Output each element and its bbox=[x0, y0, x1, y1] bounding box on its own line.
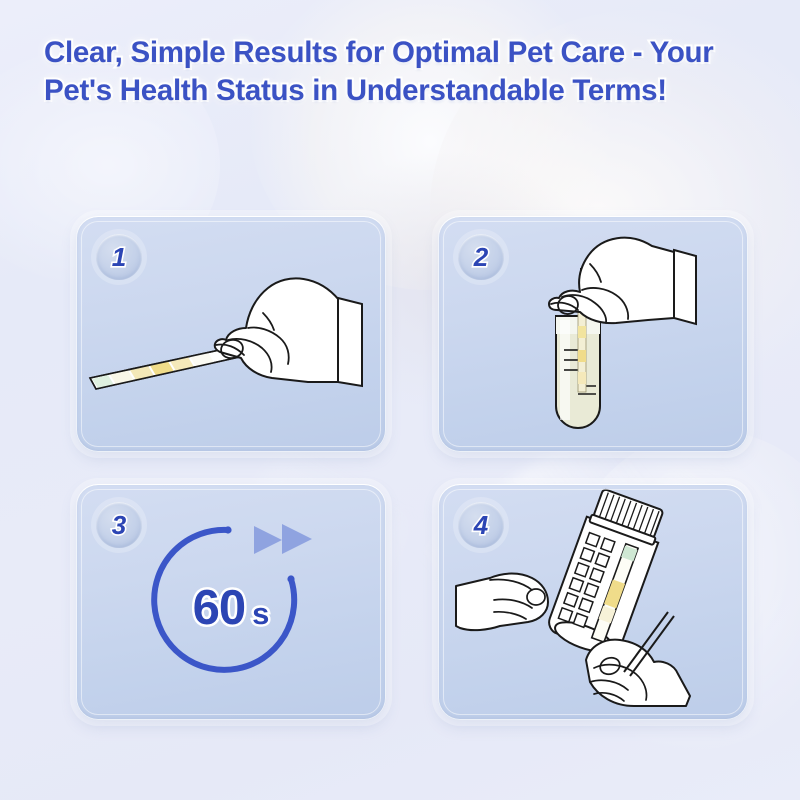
step-number-3: 3 bbox=[96, 502, 142, 548]
step-number-4: 4 bbox=[458, 502, 504, 548]
step-number-1: 1 bbox=[96, 234, 142, 280]
infographic-page: Clear, Simple Results for Optimal Pet Ca… bbox=[0, 0, 800, 800]
step-panel-2: 2 bbox=[438, 216, 748, 452]
fast-forward-arrow-1 bbox=[254, 526, 282, 554]
step-number-2: 2 bbox=[458, 234, 504, 280]
step-panel-3: 60s 3 bbox=[76, 484, 386, 720]
fast-forward-arrow-2 bbox=[282, 524, 312, 554]
step-panel-4: 4 bbox=[438, 484, 748, 720]
step-panel-1: 1 bbox=[76, 216, 386, 452]
page-title: Clear, Simple Results for Optimal Pet Ca… bbox=[44, 34, 774, 110]
steps-grid: 1 bbox=[76, 216, 748, 720]
